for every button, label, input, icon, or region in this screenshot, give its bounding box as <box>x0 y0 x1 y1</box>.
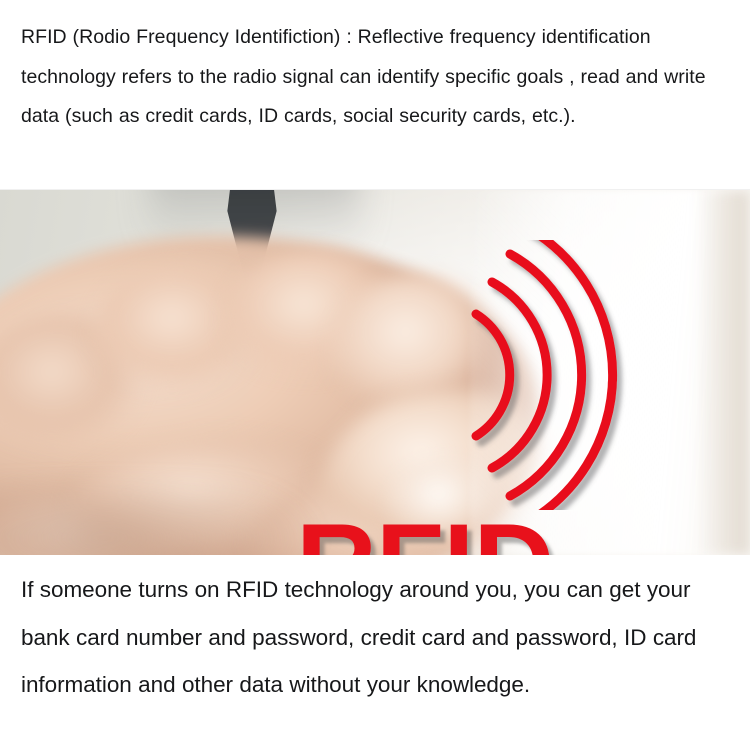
rfid-signal-waves-icon <box>470 240 700 510</box>
rfid-wordmark: RFID <box>296 508 553 555</box>
rfid-logo: RFID <box>0 190 750 555</box>
rfid-warning-paragraph: If someone turns on RFID technology arou… <box>21 566 718 709</box>
top-description-block: RFID (Rodio Frequency Identifiction) : R… <box>0 0 750 190</box>
bottom-description-block: If someone turns on RFID technology arou… <box>0 555 750 750</box>
rfid-definition-paragraph: RFID (Rodio Frequency Identifiction) : R… <box>21 18 722 137</box>
rfid-hero-image: RFID <box>0 190 750 555</box>
product-description-page: RFID (Rodio Frequency Identifiction) : R… <box>0 0 750 750</box>
